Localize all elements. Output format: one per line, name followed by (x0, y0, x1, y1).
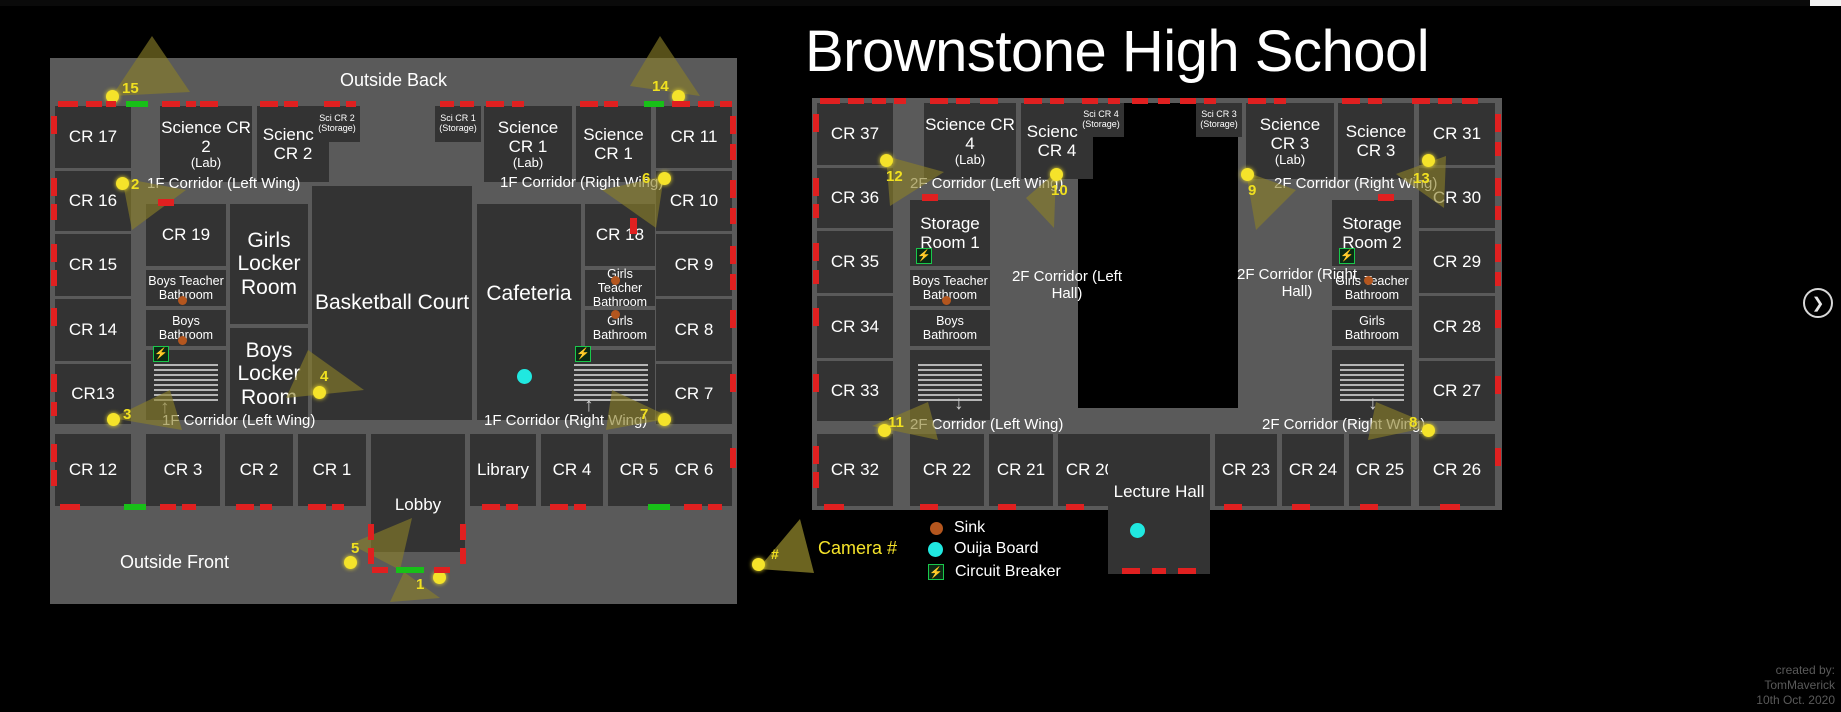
circuit-breaker-icon: ⚡ (916, 248, 932, 264)
sink-icon (178, 336, 187, 345)
window-marker (372, 567, 388, 573)
room-label: Lecture Hall (1114, 482, 1205, 501)
camera-dot-2[interactable] (116, 177, 129, 190)
window-marker (730, 274, 736, 290)
sink-icon (1364, 276, 1373, 285)
room-cr-3[interactable]: CR 3 (146, 434, 220, 506)
room-sublabel: (Storage) (318, 124, 356, 134)
room-cr-29[interactable]: CR 29 (1419, 231, 1495, 293)
window-marker (1108, 98, 1120, 104)
room-sci-cr-1-storage[interactable]: Sci CR 1(Storage) (435, 106, 481, 142)
window-marker (486, 101, 504, 107)
room-label: CR 11 (671, 127, 718, 146)
circuit-breaker-icon: ⚡ (928, 564, 944, 580)
room-girls-locker-room[interactable]: Girls Locker Room (230, 204, 308, 324)
circuit-breaker-icon: ⚡ (575, 346, 591, 362)
legend-item-circuit-breaker: ⚡ Circuit Breaker (928, 563, 1061, 581)
window-marker (51, 470, 57, 486)
legend-item-ouija-board: Ouija Board (928, 540, 1039, 558)
camera-dot-6[interactable] (658, 172, 671, 185)
camera-number-6: 6 (642, 170, 650, 187)
camera-cone-14 (630, 36, 750, 96)
window-marker (51, 244, 57, 262)
camera-number-9: 9 (1248, 182, 1256, 199)
room-cr-1[interactable]: CR 1 (298, 434, 366, 506)
ouija-board-icon (928, 542, 943, 557)
room-label: CR 12 (69, 460, 117, 479)
window-marker (51, 270, 57, 286)
room-cr-4[interactable]: CR 4 (541, 434, 603, 506)
window-marker (1180, 98, 1196, 104)
window-marker (1178, 568, 1196, 574)
next-slide-button[interactable]: ❯ (1803, 288, 1833, 318)
window-marker (848, 98, 864, 104)
camera-number-2: 2 (131, 176, 139, 193)
window-marker (1342, 98, 1360, 104)
camera-cone-10 (1026, 172, 1136, 242)
window-marker (460, 548, 466, 564)
room-label: Cafeteria (486, 282, 571, 306)
camera-cone-7 (606, 368, 726, 438)
window-marker (824, 504, 844, 510)
window-marker (813, 204, 819, 218)
window-marker (574, 504, 586, 510)
sink-icon (930, 522, 943, 535)
chevron-right-icon: ❯ (1812, 294, 1825, 312)
window-marker (813, 446, 819, 464)
window-marker (708, 504, 722, 510)
window-marker (284, 101, 298, 107)
door-marker (124, 504, 146, 510)
room-label: CR 23 (1222, 460, 1270, 479)
window-marker (730, 310, 736, 328)
credit-line-2: TomMaverick (1756, 678, 1835, 693)
room-girls-bathroom[interactable]: Girls Bathroom (585, 310, 655, 346)
door-marker (922, 194, 938, 201)
outside-front-label: Outside Front (120, 552, 229, 573)
window-marker (930, 98, 948, 104)
room-cafeteria[interactable]: Cafeteria (477, 204, 581, 420)
room-cr-12[interactable]: CR 12 (55, 434, 131, 506)
camera-cone-3 (112, 368, 232, 438)
window-marker (186, 101, 196, 107)
window-marker (698, 101, 714, 107)
room-cr-8[interactable]: CR 8 (656, 299, 732, 361)
credit-line-1: created by: (1756, 663, 1835, 678)
camera-number-4: 4 (320, 368, 328, 385)
window-marker (1495, 142, 1501, 156)
window-marker (51, 444, 57, 462)
room-label: CR 25 (1356, 460, 1404, 479)
room-label: CR 6 (675, 460, 714, 479)
window-marker (1360, 504, 1378, 510)
legend-camera-hash: # (771, 546, 779, 562)
room-boys-bathroom-2f[interactable]: Boys Bathroom (910, 310, 990, 346)
camera-number-3: 3 (123, 406, 131, 423)
room-cr-2[interactable]: CR 2 (225, 434, 293, 506)
window-marker (51, 402, 57, 416)
legend-item-sink: Sink (930, 519, 985, 537)
window-marker (58, 101, 78, 107)
room-sublabel: (Storage) (1200, 120, 1238, 130)
room-label: CR 36 (831, 188, 879, 207)
window-marker (1495, 376, 1501, 394)
window-marker (51, 116, 57, 134)
legend-camera-label: Camera # (818, 538, 897, 559)
window-marker (720, 101, 732, 107)
room-girls-bathroom-2f[interactable]: Girls Bathroom (1332, 310, 1412, 346)
window-marker (434, 567, 450, 573)
room-label: CR 32 (831, 460, 879, 479)
room-label: Sci CR 2 (319, 113, 355, 123)
window-marker (813, 374, 819, 392)
window-marker (1495, 244, 1501, 262)
camera-dot-5[interactable] (344, 556, 357, 569)
room-sublabel: (Lab) (1247, 153, 1333, 168)
circuit-breaker-icon: ⚡ (1339, 248, 1355, 264)
room-label: CR 28 (1433, 317, 1481, 336)
room-label: CR 21 (997, 460, 1045, 479)
window-marker (324, 101, 340, 107)
window-marker (1132, 98, 1148, 104)
window-marker (894, 98, 906, 104)
window-marker (332, 504, 344, 510)
window-marker (813, 472, 819, 488)
camera-cone-8 (1368, 380, 1488, 450)
credit-line-3: 10th Oct. 2020 (1756, 693, 1835, 708)
corridor-2f-right-hall: 2F Corridor (Right Hall) (1232, 266, 1362, 301)
window-marker (1274, 98, 1286, 104)
window-marker (51, 178, 57, 196)
window-marker (1495, 114, 1501, 132)
window-marker (813, 308, 819, 326)
room-label: CR 31 (1433, 124, 1481, 143)
window-marker (1122, 568, 1140, 574)
window-marker (86, 101, 102, 107)
floor-plan-1f: Outside Back Outside Front CR 17 CR 16 C… (50, 58, 737, 604)
room-label: CR 4 (553, 460, 592, 479)
room-label: Science CR 4 (925, 115, 1015, 153)
camera-number-13: 13 (1413, 170, 1430, 187)
room-sublabel: (Lab) (485, 156, 571, 171)
outside-back-label: Outside Back (340, 70, 447, 91)
window-marker (60, 504, 80, 510)
room-label: Storage Room 1 (911, 214, 989, 252)
open-to-below-void (1078, 103, 1238, 408)
window-marker (872, 98, 886, 104)
door-marker (648, 504, 670, 510)
room-label: CR 35 (831, 252, 879, 271)
window-marker (1158, 98, 1170, 104)
room-label: Girls Locker Room (231, 229, 307, 300)
window-marker (1224, 504, 1242, 510)
window-marker (51, 204, 57, 220)
room-cr-28[interactable]: CR 28 (1419, 296, 1495, 358)
room-cr-14[interactable]: CR 14 (55, 299, 131, 361)
window-marker (730, 374, 736, 392)
window-marker (730, 246, 736, 264)
room-label: Girls Teacher Bathroom (586, 267, 654, 309)
door-marker (396, 567, 424, 573)
room-label: CR 22 (923, 460, 971, 479)
room-cr-15[interactable]: CR 15 (55, 234, 131, 296)
camera-number-8: 8 (1409, 414, 1417, 431)
window-marker (440, 101, 454, 107)
window-marker (512, 101, 524, 107)
window-marker (820, 98, 840, 104)
room-label: CR 14 (69, 320, 117, 339)
sink-icon (178, 296, 187, 305)
window-marker (182, 504, 196, 510)
window-marker (162, 101, 180, 107)
room-cr-24[interactable]: CR 24 (1282, 434, 1344, 506)
camera-cone-6 (602, 176, 712, 236)
window-marker (1495, 272, 1501, 286)
window-marker (260, 101, 278, 107)
sink-icon (611, 276, 620, 285)
room-girls-teacher-bathroom[interactable]: Girls Teacher Bathroom (585, 270, 655, 306)
camera-number-7: 7 (640, 406, 648, 423)
window-marker (730, 448, 736, 468)
window-marker (1050, 98, 1064, 104)
room-label: Science CR 3 (1339, 122, 1413, 160)
room-label: CR 34 (831, 317, 879, 336)
door-marker (1378, 194, 1394, 201)
window-marker (813, 178, 819, 196)
room-label: Basketball Court (315, 291, 469, 315)
camera-number-1: 1 (416, 576, 424, 593)
window-marker (1495, 310, 1501, 328)
window-marker (730, 144, 736, 160)
window-marker (1438, 98, 1452, 104)
window-marker (1024, 98, 1042, 104)
room-sublabel: (Lab) (161, 156, 251, 171)
camera-number-14: 14 (652, 78, 669, 95)
room-label: CR 8 (675, 320, 714, 339)
room-science-cr-2-lab[interactable]: Science CR 2(Lab) (160, 106, 252, 182)
circuit-breaker-icon: ⚡ (153, 346, 169, 362)
camera-number-10: 10 (1051, 182, 1068, 199)
window-marker (1204, 98, 1216, 104)
door-marker (126, 101, 148, 107)
window-marker (813, 243, 819, 261)
room-label: CR 16 (69, 191, 117, 210)
room-cr-21[interactable]: CR 21 (989, 434, 1053, 506)
room-lecture-hall[interactable]: Lecture Hall (1108, 434, 1210, 574)
room-sublabel: (Storage) (1082, 120, 1120, 130)
room-cr-35[interactable]: CR 35 (817, 231, 893, 293)
room-label: CR 1 (313, 460, 352, 479)
window-marker (200, 101, 218, 107)
room-label: CR 17 (69, 127, 117, 146)
room-label: CR 37 (831, 124, 879, 143)
window-marker (1495, 178, 1501, 196)
room-label: CR 9 (675, 255, 714, 274)
camera-cone-4 (286, 342, 396, 422)
room-cr-11[interactable]: CR 11 (656, 106, 732, 168)
door-marker (158, 199, 174, 206)
room-label: CR 15 (69, 255, 117, 274)
window-marker (684, 504, 702, 510)
room-label: Science CR 1 (498, 118, 558, 156)
window-marker (346, 101, 356, 107)
window-marker (236, 504, 254, 510)
page-title: Brownstone High School (805, 18, 1429, 85)
room-sci-cr-2-storage[interactable]: Sci CR 2(Storage) (314, 106, 360, 142)
ouija-board-icon (517, 369, 532, 384)
window-marker (550, 504, 568, 510)
stairs-up-arrow-right: ↑ (584, 396, 594, 415)
window-marker (1495, 448, 1501, 466)
camera-dot-9[interactable] (1241, 168, 1254, 181)
floor-plan-2f: CR 37 CR 36 CR 35 CR 34 CR 33 CR 32 Scie… (812, 98, 1502, 510)
camera-dot-4[interactable] (313, 386, 326, 399)
window-marker (730, 116, 736, 134)
window-marker (160, 504, 176, 510)
room-label: Science CR 2 (161, 118, 251, 156)
room-science-cr-1-lab[interactable]: Science CR 1(Lab) (484, 106, 572, 182)
window-marker (106, 101, 116, 107)
room-label: CR 20 (1066, 460, 1114, 479)
window-marker (460, 524, 466, 540)
room-label: CR 24 (1289, 460, 1337, 479)
window-marker (1368, 98, 1382, 104)
room-cr-34[interactable]: CR 34 (817, 296, 893, 358)
credit-block: created by: TomMaverick 10th Oct. 2020 (1756, 663, 1835, 708)
camera-dot-13[interactable] (1422, 154, 1435, 167)
room-label: Science CR 3 (1260, 115, 1320, 153)
camera-number-11: 11 (888, 414, 904, 431)
window-marker (672, 101, 690, 107)
corridor-2f-left-hall: 2F Corridor (Left Hall) (1002, 268, 1132, 303)
camera-dot-7[interactable] (658, 413, 671, 426)
camera-dot-8[interactable] (1422, 424, 1435, 437)
window-marker (1082, 98, 1098, 104)
window-marker (368, 548, 374, 564)
room-label: Boys Bathroom (911, 314, 989, 342)
room-sublabel: (Storage) (439, 124, 477, 134)
window-marker (1248, 98, 1266, 104)
camera-dot-3[interactable] (107, 413, 120, 426)
window-marker (920, 504, 938, 510)
ouija-board-icon (1130, 523, 1145, 538)
room-library[interactable]: Library (470, 434, 536, 506)
window-marker (482, 504, 500, 510)
room-cr-9[interactable]: CR 9 (656, 234, 732, 296)
window-marker (956, 98, 970, 104)
room-label: Girls Bathroom (586, 314, 654, 342)
room-label: Science CR 1 (577, 125, 650, 163)
room-label: Girls Bathroom (1333, 314, 1411, 342)
window-marker (506, 504, 518, 510)
room-label: Sci CR 4 (1083, 109, 1119, 119)
window-marker (1412, 98, 1430, 104)
window-marker (51, 308, 57, 326)
window-marker (1495, 206, 1501, 220)
room-sci-cr-3-storage[interactable]: Sci CR 3(Storage) (1196, 103, 1242, 137)
sink-icon (611, 310, 620, 319)
room-science-cr-3-lab[interactable]: Science CR 3(Lab) (1246, 103, 1334, 179)
camera-number-5: 5 (351, 540, 359, 557)
room-label: CR 26 (1433, 460, 1481, 479)
camera-number-15: 15 (122, 80, 139, 97)
room-cr-23[interactable]: CR 23 (1215, 434, 1277, 506)
legend-label: Ouija Board (954, 540, 1039, 558)
top-edge-strip-dark (0, 0, 1810, 6)
room-label: Sci CR 1 (440, 113, 476, 123)
window-marker (51, 374, 57, 392)
window-marker (1462, 98, 1478, 104)
window-marker (1152, 568, 1166, 574)
window-marker (1292, 504, 1310, 510)
door-marker (644, 101, 664, 107)
window-marker (1066, 504, 1084, 510)
camera-dot-12[interactable] (880, 154, 893, 167)
window-marker (980, 98, 998, 104)
window-marker (998, 504, 1016, 510)
room-label: Sci CR 3 (1201, 109, 1237, 119)
window-marker (730, 208, 736, 224)
window-marker (813, 270, 819, 284)
room-cr-17[interactable]: CR 17 (55, 106, 131, 168)
window-marker (260, 504, 272, 510)
room-label: CR 5 (620, 460, 659, 479)
window-marker (813, 114, 819, 132)
legend-camera-dot-icon (752, 558, 765, 571)
legend-label: Circuit Breaker (955, 563, 1061, 581)
window-marker (308, 504, 326, 510)
room-science-cr-1[interactable]: Science CR 1 (576, 106, 651, 182)
room-sci-cr-4-storage[interactable]: Sci CR 4(Storage) (1078, 103, 1124, 137)
room-label: Library (477, 460, 529, 479)
window-marker (730, 180, 736, 198)
room-label: CR 2 (240, 460, 279, 479)
room-label: CR13 (71, 384, 114, 403)
window-marker (580, 101, 598, 107)
camera-number-12: 12 (886, 168, 903, 185)
legend-label: Sink (954, 519, 985, 537)
room-label: CR 29 (1433, 252, 1481, 271)
window-marker (1440, 504, 1460, 510)
window-marker (460, 101, 474, 107)
camera-cone-12 (876, 156, 986, 216)
room-label: CR 3 (164, 460, 203, 479)
sink-icon (942, 296, 951, 305)
window-marker (604, 101, 618, 107)
room-cr-5[interactable]: CR 5 (608, 434, 670, 506)
window-marker (368, 524, 374, 540)
door-marker (630, 218, 637, 234)
camera-dot-10[interactable] (1050, 168, 1063, 181)
camera-cone-13 (1396, 156, 1506, 218)
